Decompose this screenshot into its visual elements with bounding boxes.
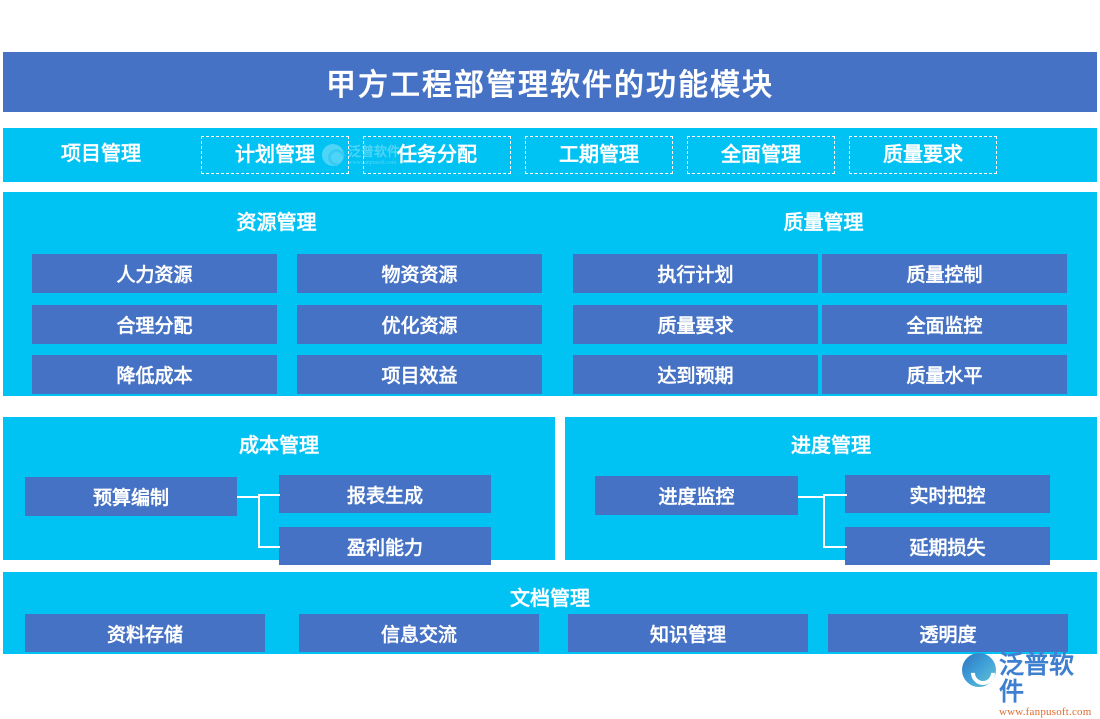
box-resource-c0-r2[interactable]: 降低成本 <box>32 355 277 394</box>
section-title-document: 文档管理 <box>3 582 1097 611</box>
panel-resource-and-quality: 资源管理 质量管理 人力资源 合理分配 降低成本 物资资源 优化资源 项目效益 … <box>3 192 1097 396</box>
page-title-bar: 甲方工程部管理软件的功能模块 <box>3 52 1097 112</box>
nav-item-task-assignment[interactable]: 任务分配 <box>363 136 511 174</box>
nav-item-project-management[interactable]: 项目管理 <box>25 136 177 174</box>
connector-schedule-branch-2 <box>823 546 847 548</box>
brand-name: 泛普软件 <box>999 652 1096 706</box>
box-cost-main[interactable]: 预算编制 <box>25 477 237 516</box>
box-schedule-branch-1[interactable]: 实时把控 <box>845 475 1050 513</box>
page-title: 甲方工程部管理软件的功能模块 <box>326 60 774 104</box>
box-document-1[interactable]: 资料存储 <box>25 614 265 652</box>
box-quality-c1-r0[interactable]: 质量控制 <box>822 254 1067 293</box>
connector-schedule-branch-1 <box>823 494 847 496</box>
brand-swirl-icon <box>962 653 996 687</box>
brand-url: www.fanpusoft.com <box>999 706 1096 719</box>
box-resource-c1-r0[interactable]: 物资资源 <box>297 254 542 293</box>
box-quality-c0-r1[interactable]: 质量要求 <box>573 305 818 344</box>
nav-item-overall-management[interactable]: 全面管理 <box>687 136 835 174</box>
box-quality-c1-r1[interactable]: 全面监控 <box>822 305 1067 344</box>
box-schedule-main[interactable]: 进度监控 <box>595 476 798 515</box>
brand-logo: 泛普软件 www.fanpusoft.com <box>962 652 1096 698</box>
section-title-cost: 成本管理 <box>3 429 555 458</box>
connector-schedule-stem <box>798 496 824 498</box>
box-resource-c1-r1[interactable]: 优化资源 <box>297 305 542 344</box>
connector-schedule-spine <box>823 496 825 548</box>
box-document-4[interactable]: 透明度 <box>828 614 1068 652</box>
panel-document-management: 文档管理 资料存储 信息交流 知识管理 透明度 <box>3 572 1097 654</box>
box-document-3[interactable]: 知识管理 <box>568 614 808 652</box>
box-quality-c0-r0[interactable]: 执行计划 <box>573 254 818 293</box>
connector-cost-branch-1 <box>258 494 280 496</box>
box-cost-branch-2[interactable]: 盈利能力 <box>279 527 491 565</box>
section-title-schedule: 进度管理 <box>565 429 1097 458</box>
box-resource-c1-r2[interactable]: 项目效益 <box>297 355 542 394</box>
diagram-page: 甲方工程部管理软件的功能模块 项目管理 计划管理 任务分配 工期管理 全面管理 … <box>0 0 1100 700</box>
panel-schedule-management: 进度管理 进度监控 实时把控 延期损失 <box>565 417 1097 560</box>
nav-item-duration-management[interactable]: 工期管理 <box>525 136 673 174</box>
nav-item-plan-management[interactable]: 计划管理 <box>201 136 349 174</box>
box-quality-c0-r2[interactable]: 达到预期 <box>573 355 818 394</box>
connector-cost-branch-2 <box>258 546 280 548</box>
module-nav-bar: 项目管理 计划管理 任务分配 工期管理 全面管理 质量要求 <box>3 128 1097 182</box>
box-quality-c1-r2[interactable]: 质量水平 <box>822 355 1067 394</box>
box-resource-c0-r0[interactable]: 人力资源 <box>32 254 277 293</box>
brand-wordmark: 泛普软件 www.fanpusoft.com <box>999 652 1096 719</box>
box-cost-branch-1[interactable]: 报表生成 <box>279 475 491 513</box>
box-schedule-branch-2[interactable]: 延期损失 <box>845 527 1050 565</box>
box-document-2[interactable]: 信息交流 <box>299 614 539 652</box>
nav-item-quality-requirement[interactable]: 质量要求 <box>849 136 997 174</box>
connector-cost-stem <box>237 496 259 498</box>
connector-cost-spine <box>258 496 260 548</box>
resource-quality-grid: 人力资源 合理分配 降低成本 物资资源 优化资源 项目效益 执行计划 质量要求 … <box>3 192 1097 396</box>
panel-cost-management: 成本管理 预算编制 报表生成 盈利能力 <box>3 417 555 560</box>
box-resource-c0-r1[interactable]: 合理分配 <box>32 305 277 344</box>
